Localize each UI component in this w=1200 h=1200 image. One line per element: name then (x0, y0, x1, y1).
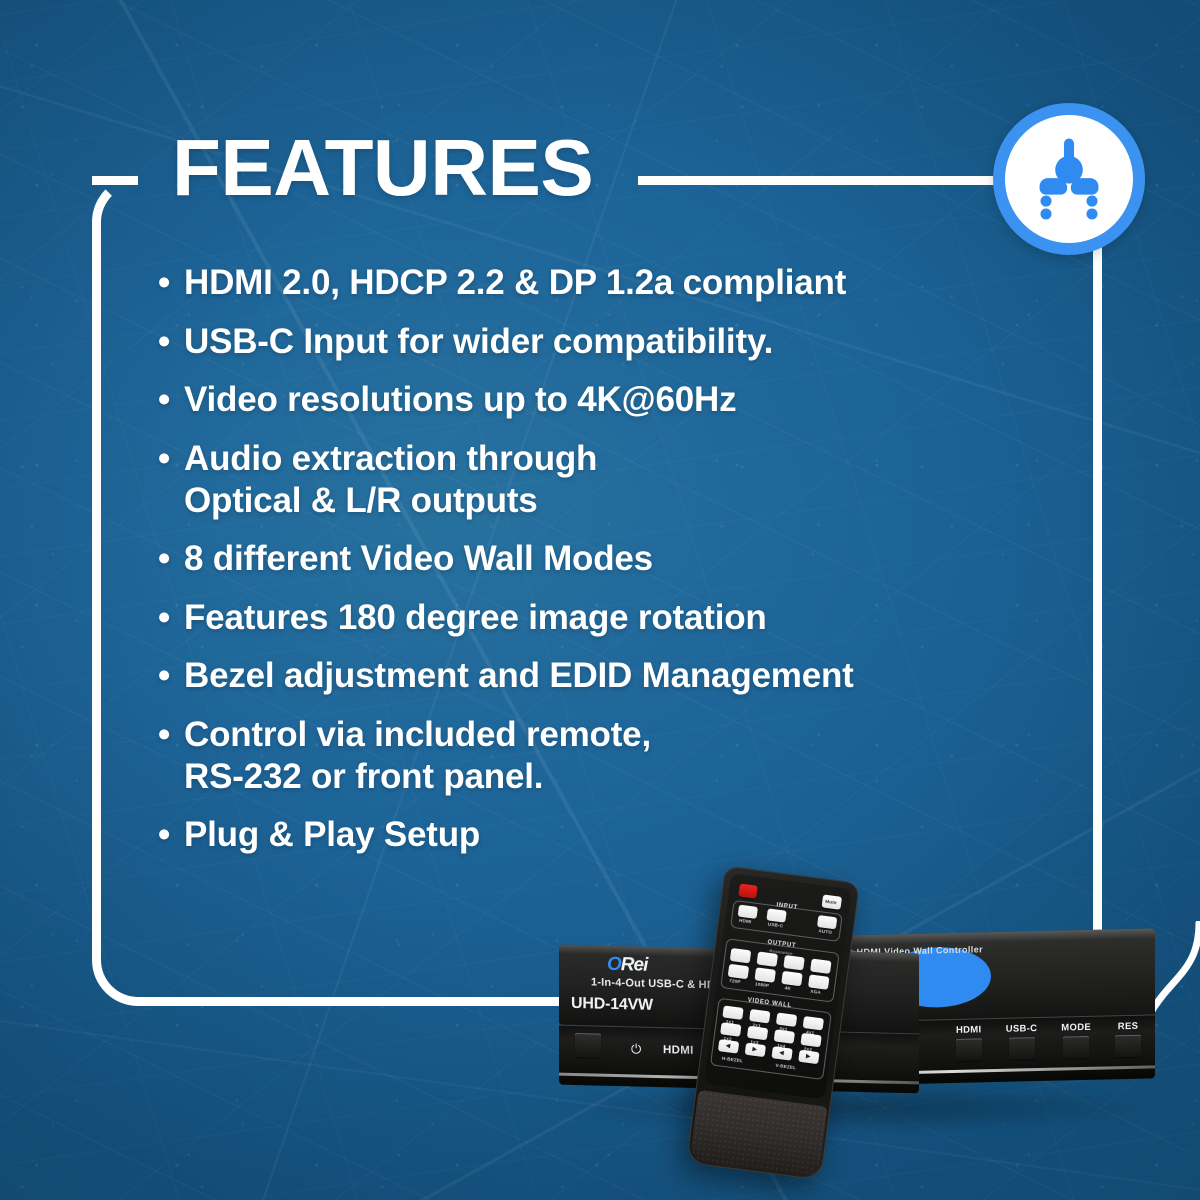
remote-output-4k-button[interactable] (781, 971, 803, 986)
feature-item: • Plug & Play Setup (158, 814, 1078, 856)
page-title: FEATURES (172, 128, 593, 208)
ir-remote-control: Mute INPUT HDMI USB-C AUTO OUTPUT Resolu… (686, 865, 860, 1180)
remote-vw-1x3-button[interactable] (747, 1026, 768, 1041)
bullet-icon: • (158, 379, 182, 421)
orei-logo-o: O (607, 954, 621, 975)
back-unit-button-switch[interactable] (1009, 1037, 1035, 1060)
chevron-right-icon: ▶ (806, 1054, 811, 1061)
feature-item: • USB-C Input for wider compatibility. (158, 321, 1078, 363)
bullet-icon: • (158, 814, 182, 856)
feature-item: • Audio extraction through Optical & L/R… (158, 438, 1078, 521)
feature-text: Audio extraction through Optical & L/R o… (184, 438, 1078, 521)
bullet-icon: • (158, 597, 182, 639)
chevron-left-icon: ◀ (725, 1043, 730, 1050)
front-unit-model: UHD-14VW (571, 995, 653, 1015)
bullet-icon: • (158, 538, 182, 580)
remote-vw-4x1-button[interactable] (803, 1016, 824, 1031)
feature-item: • HDMI 2.0, HDCP 2.2 & DP 1.2a compliant (158, 262, 1078, 304)
remote-input-hdmi-button[interactable] (738, 905, 758, 919)
feature-text: HDMI 2.0, HDCP 2.2 & DP 1.2a compliant (184, 262, 1078, 304)
back-unit-button-label: RES (1115, 1021, 1141, 1033)
feature-item: • 8 different Video Wall Modes (158, 538, 1078, 580)
feature-item: • Video resolutions up to 4K@60Hz (158, 379, 1078, 421)
remote-output-button-a[interactable] (730, 948, 752, 963)
bullet-icon: • (158, 262, 182, 304)
orei-logo-rest: Rei (621, 954, 648, 976)
chevron-left-icon: ◀ (779, 1050, 784, 1057)
feature-graphic: FEATURES • HDMI 2.0, HDCP 2.2 & DP 1.2a … (0, 0, 1200, 1200)
remote-output-1080p-button[interactable] (754, 967, 776, 982)
feature-item: • Control via included remote, RS-232 or… (158, 714, 1078, 797)
front-unit-power-switch[interactable] (575, 1033, 601, 1058)
title-divider-rule (638, 176, 1010, 185)
back-unit-button-res[interactable]: RES (1115, 1021, 1141, 1058)
remote-power-button[interactable] (738, 883, 758, 898)
back-unit-button-switch[interactable] (1063, 1036, 1089, 1059)
remote-output-xga-button[interactable] (808, 974, 830, 989)
chevron-right-icon: ▶ (752, 1047, 757, 1054)
remote-input-usbc-button[interactable] (766, 908, 786, 922)
remote-output-button-c[interactable] (783, 955, 805, 970)
back-unit-button-label: HDMI (956, 1024, 982, 1036)
feature-list: • HDMI 2.0, HDCP 2.2 & DP 1.2a compliant… (158, 262, 1078, 873)
back-unit-button-label: MODE (1061, 1022, 1091, 1034)
frame-top-left-stub (92, 176, 138, 185)
feature-item: • Features 180 degree image rotation (158, 597, 1078, 639)
back-unit-button-switch[interactable] (1115, 1035, 1141, 1058)
back-unit-button-row: HDMI USB-C MODE RES (956, 1021, 1141, 1061)
feature-text: Plug & Play Setup (184, 814, 1078, 856)
back-unit-button-mode[interactable]: MODE (1061, 1022, 1091, 1059)
bullet-icon: • (158, 655, 182, 697)
feature-text: Features 180 degree image rotation (184, 597, 1078, 639)
remote-input-auto-button[interactable] (817, 915, 837, 929)
feature-text: Control via included remote, RS-232 or f… (184, 714, 1078, 797)
orei-wordmark: ORei (607, 955, 647, 975)
bullet-icon: • (158, 321, 182, 363)
back-unit-button-label: USB-C (1006, 1023, 1038, 1035)
remote-output-button-d[interactable] (810, 959, 832, 974)
remote-vw-3x1-button[interactable] (776, 1012, 797, 1027)
product-photo: 1-In-4-Out USB-C & HDMI Video Wall Contr… (545, 905, 1185, 1195)
bullet-icon: • (158, 438, 182, 480)
bullet-icon: • (158, 714, 182, 756)
feature-text: Video resolutions up to 4K@60Hz (184, 379, 1078, 421)
signal-splitter-icon-badge (993, 103, 1145, 255)
feature-text: 8 different Video Wall Modes (184, 538, 1078, 580)
remote-vw-2x2-button[interactable] (800, 1033, 821, 1048)
back-unit-button-usbc[interactable]: USB-C (1006, 1023, 1038, 1060)
remote-output-4k-label: 4K (784, 985, 791, 991)
power-icon: ⏻ (631, 1042, 641, 1055)
remote-output-720p-button[interactable] (728, 964, 750, 979)
feature-item: • Bezel adjustment and EDID Management (158, 655, 1078, 697)
remote-vw-2x1-button[interactable] (749, 1009, 770, 1024)
signal-splitter-icon (1023, 133, 1115, 225)
remote-output-button-b[interactable] (757, 951, 779, 966)
remote-vw-1x2-button[interactable] (720, 1022, 741, 1037)
feature-text: Bezel adjustment and EDID Management (184, 655, 1078, 697)
back-unit-button-switch[interactable] (956, 1038, 982, 1061)
back-unit-button-hdmi[interactable]: HDMI (956, 1024, 982, 1061)
front-unit-label-hdmi: HDMI (663, 1044, 694, 1057)
feature-text: USB-C Input for wider compatibility. (184, 321, 1078, 363)
